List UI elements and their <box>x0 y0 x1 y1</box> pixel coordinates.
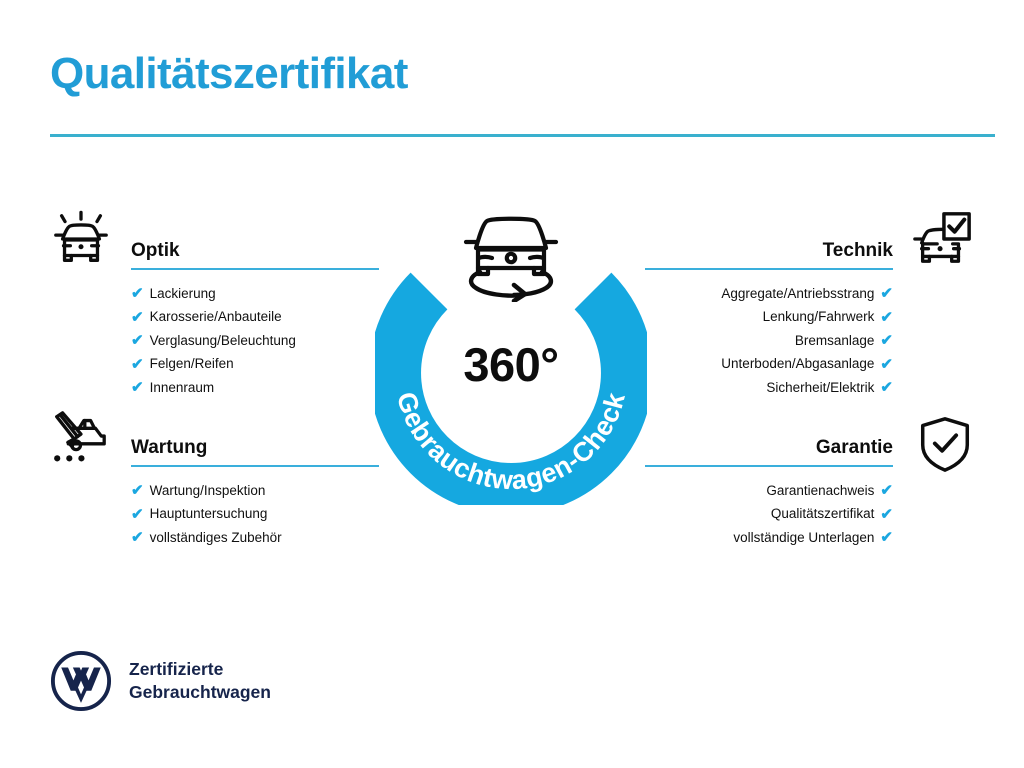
list-item-label: Lackierung <box>150 282 216 306</box>
check-icon: ✔ <box>131 380 144 395</box>
list-item-label: vollständiges Zubehör <box>150 526 282 550</box>
check-icon: ✔ <box>880 286 893 301</box>
check-icon: ✔ <box>131 530 144 545</box>
section-list-optik: ✔Lackierung ✔Karosserie/Anbauteile ✔Verg… <box>131 282 379 400</box>
certificate-page: Qualitätszertifikat Optik ✔Lackierung ✔K… <box>0 0 1024 768</box>
section-divider-optik <box>131 268 379 270</box>
list-item: ✔Hauptuntersuchung <box>131 502 379 526</box>
list-item: ✔vollständiges Zubehör <box>131 526 379 550</box>
footer-brand: Zertifizierte Gebrauchtwagen <box>50 650 271 712</box>
list-item: Lenkung/Fahrwerk✔ <box>645 305 893 329</box>
check-icon: ✔ <box>131 483 144 498</box>
section-heading-technik: Technik <box>645 241 893 261</box>
list-item: Bremsanlage✔ <box>645 329 893 353</box>
check-icon: ✔ <box>880 483 893 498</box>
footer-line-2: Gebrauchtwagen <box>129 681 271 704</box>
list-item-label: Innenraum <box>150 376 215 400</box>
list-item: ✔Verglasung/Beleuchtung <box>131 329 379 353</box>
check-icon: ✔ <box>131 507 144 522</box>
car-rotation-icon <box>452 204 570 302</box>
header-divider <box>50 134 995 137</box>
list-item: ✔Felgen/Reifen <box>131 352 379 376</box>
section-technik: Technik Aggregate/Antriebsstrang✔ Lenkun… <box>645 241 893 399</box>
section-heading-garantie: Garantie <box>645 438 893 458</box>
list-item: Unterboden/Abgasanlage✔ <box>645 352 893 376</box>
section-list-technik: Aggregate/Antriebsstrang✔ Lenkung/Fahrwe… <box>645 282 893 400</box>
check-icon: ✔ <box>880 380 893 395</box>
list-item: ✔Lackierung <box>131 282 379 306</box>
list-item: ✔Wartung/Inspektion <box>131 479 379 503</box>
list-item-label: vollständige Unterlagen <box>733 526 874 550</box>
check-icon: ✔ <box>880 310 893 325</box>
list-item: ✔Innenraum <box>131 376 379 400</box>
list-item: Aggregate/Antriebsstrang✔ <box>645 282 893 306</box>
check-icon: ✔ <box>131 310 144 325</box>
footer-brand-text: Zertifizierte Gebrauchtwagen <box>129 658 271 704</box>
section-divider-wartung <box>131 465 379 467</box>
list-item-label: Bremsanlage <box>795 329 875 353</box>
badge-center-label: 360° <box>375 336 647 392</box>
list-item-label: Garantienachweis <box>766 479 874 503</box>
list-item: vollständige Unterlagen✔ <box>645 526 893 550</box>
check-icon: ✔ <box>131 357 144 372</box>
list-item-label: Lenkung/Fahrwerk <box>763 305 875 329</box>
shield-check-icon <box>914 413 976 475</box>
page-title: Qualitätszertifikat <box>50 52 408 96</box>
car-shine-icon <box>50 208 112 270</box>
list-item-label: Karosserie/Anbauteile <box>150 305 282 329</box>
list-item: Qualitätszertifikat✔ <box>645 502 893 526</box>
check-icon: ✔ <box>880 507 893 522</box>
list-item-label: Hauptuntersuchung <box>150 502 268 526</box>
footer-line-1: Zertifizierte <box>129 658 271 681</box>
list-item: ✔Karosserie/Anbauteile <box>131 305 379 329</box>
car-checkbox-icon <box>911 208 973 270</box>
car-service-tool-icon <box>48 407 110 469</box>
check-icon: ✔ <box>880 357 893 372</box>
section-optik: Optik ✔Lackierung ✔Karosserie/Anbauteile… <box>131 241 379 399</box>
section-divider-garantie <box>645 465 893 467</box>
list-item: Garantienachweis✔ <box>645 479 893 503</box>
section-wartung: Wartung ✔Wartung/Inspektion ✔Hauptunters… <box>131 438 379 549</box>
section-heading-wartung: Wartung <box>131 438 379 458</box>
section-divider-technik <box>645 268 893 270</box>
check-icon: ✔ <box>131 286 144 301</box>
list-item: Sicherheit/Elektrik✔ <box>645 376 893 400</box>
check-icon: ✔ <box>131 333 144 348</box>
section-list-garantie: Garantienachweis✔ Qualitätszertifikat✔ v… <box>645 479 893 550</box>
section-heading-optik: Optik <box>131 241 379 261</box>
list-item-label: Wartung/Inspektion <box>150 479 266 503</box>
list-item-label: Qualitätszertifikat <box>771 502 875 526</box>
list-item-label: Sicherheit/Elektrik <box>766 376 874 400</box>
list-item-label: Felgen/Reifen <box>150 352 234 376</box>
list-item-label: Aggregate/Antriebsstrang <box>721 282 874 306</box>
check-icon: ✔ <box>880 333 893 348</box>
section-garantie: Garantie Garantienachweis✔ Qualitätszert… <box>645 438 893 549</box>
section-list-wartung: ✔Wartung/Inspektion ✔Hauptuntersuchung ✔… <box>131 479 379 550</box>
list-item-label: Verglasung/Beleuchtung <box>150 329 296 353</box>
check-icon: ✔ <box>880 530 893 545</box>
list-item-label: Unterboden/Abgasanlage <box>721 352 874 376</box>
vw-logo-icon <box>50 650 112 712</box>
